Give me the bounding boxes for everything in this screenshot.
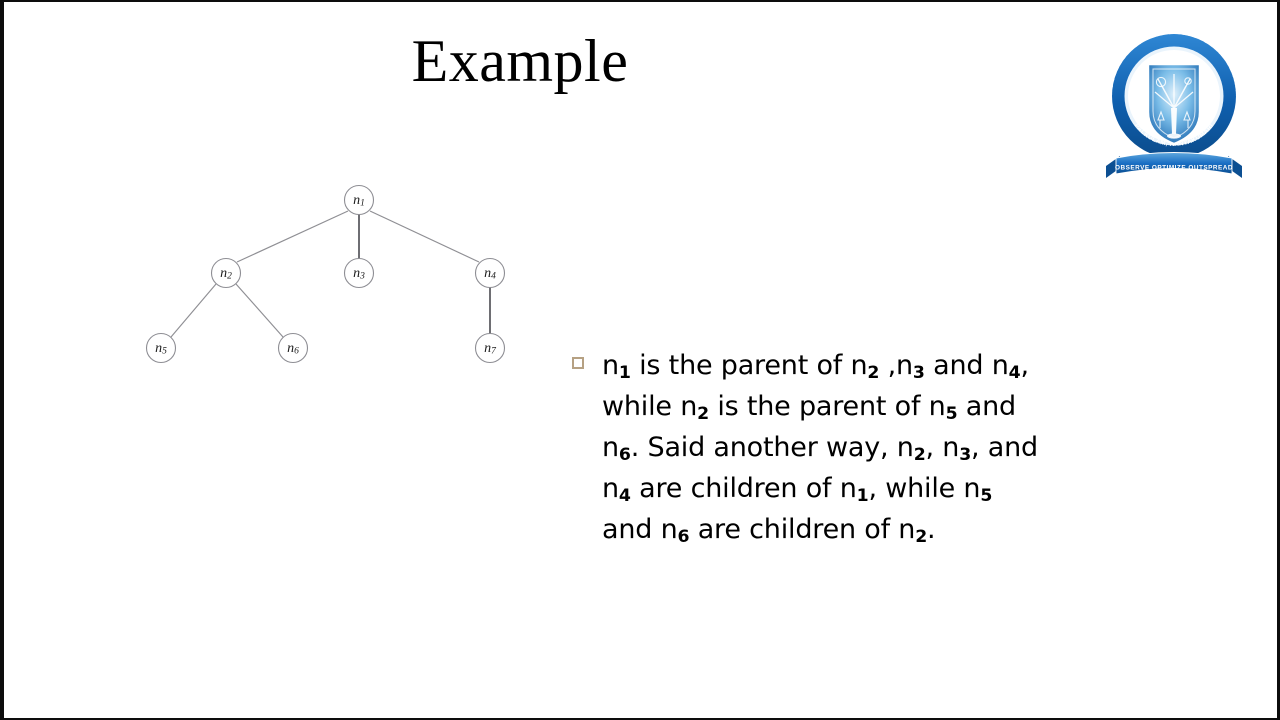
tree-node-n2[interactable]: n2	[212, 259, 241, 288]
bullet-paragraph: n1 is the parent of n2 ,n3 and n4, while…	[602, 347, 1042, 552]
tree-edge-n1-n2	[237, 211, 348, 262]
tree-edge-n2-n5	[171, 284, 216, 337]
tree-node-n5[interactable]: n5	[147, 334, 176, 363]
tree-node-n4[interactable]: n4	[476, 259, 505, 288]
list-item: n1 is the parent of n2 ,n3 and n4, while…	[572, 347, 1042, 552]
tree-edge-n2-n6	[236, 284, 283, 337]
tree-diagram: n1 n2 n3 n4 n5	[130, 168, 530, 378]
letterbox-left-edge	[0, 0, 4, 720]
tree-node-n6[interactable]: n6	[279, 334, 308, 363]
tree-edge-n1-n4	[370, 211, 479, 262]
tree-node-n1[interactable]: n1	[345, 186, 374, 215]
logo-ribbon: OBSERVE OPTIMIZE OUTSPREAD	[1106, 153, 1242, 179]
content-body: n1 is the parent of n2 ,n3 and n4, while…	[572, 347, 1042, 552]
tree-node-n7[interactable]: n7	[476, 334, 505, 363]
letterbox-top-edge	[0, 0, 1280, 2]
page-title: Example	[0, 30, 1040, 93]
square-bullet-icon	[572, 357, 584, 369]
logo-motto-text: OBSERVE OPTIMIZE OUTSPREAD	[1115, 165, 1233, 172]
tree-nodes: n1 n2 n3 n4 n5	[147, 186, 505, 363]
slide-canvas: Example	[0, 0, 1280, 720]
tree-node-n3[interactable]: n3	[345, 259, 374, 288]
college-logo: ROHINI COLLEGE OF ENGINEERING AND TECHNO…	[1098, 16, 1250, 192]
